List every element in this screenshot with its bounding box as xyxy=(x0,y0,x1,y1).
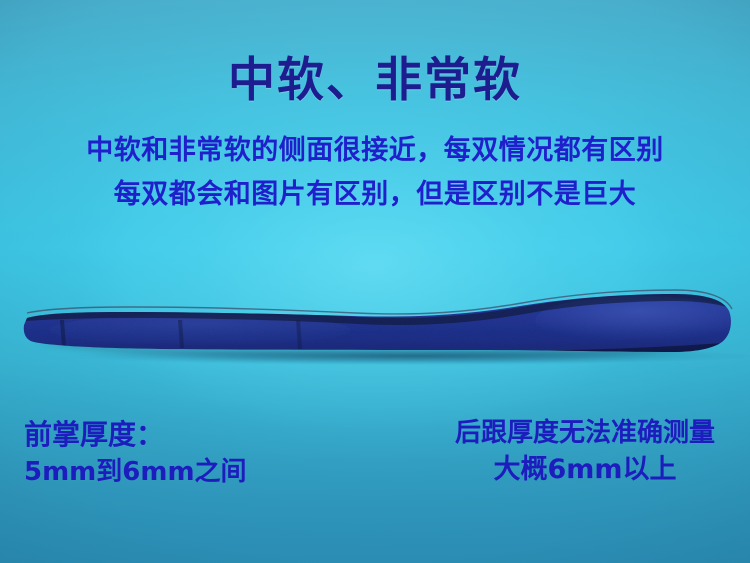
insole-body xyxy=(0,280,750,390)
caption-heel-thickness: 后跟厚度无法准确测量 大概6mm以上 xyxy=(440,418,730,487)
subtitle-line-1: 中软和非常软的侧面很接近，每双情况都有区别 xyxy=(0,131,750,171)
caption-forefoot-thickness: 前掌厚度： 5mm到6mm之间 xyxy=(24,418,247,489)
caption-forefoot-value: 5mm到6mm之间 xyxy=(24,457,247,489)
caption-heel-label: 后跟厚度无法准确测量 xyxy=(440,418,730,450)
subtitle-line-2: 每双都会和图片有区别，但是区别不是巨大 xyxy=(0,175,750,215)
product-poster: 中软、非常软 中软和非常软的侧面很接近，每双情况都有区别 每双都会和图片有区别，… xyxy=(0,0,750,563)
insole-side-profile-graphic xyxy=(0,280,750,390)
insole-image xyxy=(0,280,750,390)
caption-heel-value: 大概6mm以上 xyxy=(440,454,730,487)
heading-block: 中软、非常软 中软和非常软的侧面很接近，每双情况都有区别 每双都会和图片有区别，… xyxy=(0,56,750,215)
page-title: 中软、非常软 xyxy=(0,56,750,105)
caption-forefoot-label: 前掌厚度： xyxy=(24,418,247,452)
